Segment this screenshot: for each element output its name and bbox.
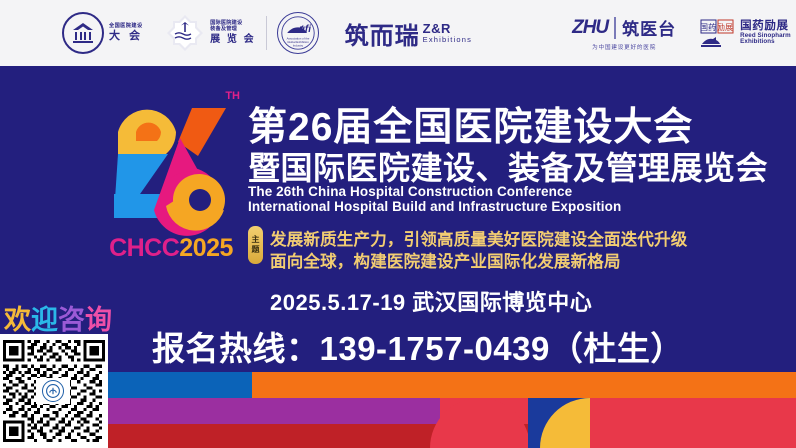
- logo2-line3: 展 览 会: [210, 34, 256, 46]
- snowflake-icon: [165, 13, 205, 53]
- logo-zhuyitai: ZHU 筑医台 为中国建设更好的医院: [572, 15, 676, 51]
- logo-national-conference: 全国医院建设 大 会: [62, 12, 143, 54]
- title-chinese-secondary: 暨国际医院建设、装备及管理展览会: [248, 143, 768, 189]
- zhu-divider: [614, 17, 616, 39]
- qr-seal-glyph-icon: [45, 383, 61, 399]
- qr-seal-icon: [42, 380, 64, 402]
- svg-text:ufi: ufi: [299, 24, 311, 35]
- theme-badge-char2: 题: [252, 245, 260, 255]
- svg-text:励展: 励展: [717, 23, 733, 32]
- zr-en-sub: Exhibitions: [423, 36, 472, 44]
- date-and-venue: 2025.5.17-19 武汉国际博览中心: [270, 285, 592, 317]
- building-seal-icon: [62, 12, 104, 54]
- decorative-color-band: [0, 358, 796, 448]
- ufi-glyph-icon: ufi Association of the Global Exhibition…: [280, 15, 316, 51]
- zr-chinese-name: 筑而瑞: [345, 16, 420, 51]
- logo-divider: [266, 16, 267, 50]
- chcc-brand-letters: CHCC: [109, 234, 179, 262]
- chcc-brand: CHCC2025: [96, 234, 246, 263]
- chcc-brand-year: 2025: [179, 234, 233, 262]
- ufi-badge-icon: ufi Association of the Global Exhibition…: [277, 12, 319, 54]
- title-english-primary: The 26th China Hospital Construction Con…: [248, 184, 572, 199]
- logo-reed-sinopharm: 国药 励展 国药励展 Reed Sinopharm Exhibitions: [700, 18, 791, 48]
- logo1-line2: 大 会: [109, 31, 143, 43]
- welcome-char-3: 咨: [58, 305, 85, 335]
- emblem-superscript: TH: [225, 90, 240, 102]
- theme-badge-char1: 主: [252, 235, 260, 245]
- svg-text:国药: 国药: [700, 22, 716, 32]
- reed-en-sub: Exhibitions: [740, 39, 791, 46]
- title-english-secondary: International Hospital Build and Infrast…: [248, 199, 621, 214]
- logo-exhibition: 国际医院建设 装备及管理 展 览 会: [165, 13, 256, 53]
- reed-sinopharm-icon: 国药 励展: [700, 18, 736, 48]
- logo-zr-exhibitions: 筑而瑞 Z&R Exhibitions: [345, 16, 472, 51]
- zhu-slogan: 为中国建设更好的医院: [572, 43, 676, 51]
- welcome-char-2: 迎: [31, 305, 58, 335]
- logo1-line1: 全国医院建设: [109, 24, 143, 29]
- chcc-emblem: TH CHCC2025: [96, 88, 246, 263]
- welcome-text: 欢迎咨询: [4, 298, 112, 337]
- reed-chinese-name: 国药励展: [740, 20, 791, 33]
- registration-hotline: 报名热线：139-1757-0439（杜生）: [152, 322, 684, 370]
- theme-line-1: 发展新质生产力，引领高质量美好医院建设全面迭代升级: [270, 226, 688, 250]
- qr-center-logo: [36, 378, 70, 404]
- svg-text:Industry: Industry: [293, 44, 304, 48]
- logo2-line2: 装备及管理: [210, 27, 256, 33]
- building-glyph-icon: [70, 20, 96, 46]
- welcome-char-4: 询: [85, 305, 112, 335]
- theme-badge: 主 题: [248, 226, 263, 264]
- emblem-26-icon: [96, 88, 246, 238]
- poster-canvas: 全国医院建设 大 会 国际医院建设 装备及管理 展 览 会: [0, 0, 796, 448]
- zr-en-name: Z&R: [423, 22, 472, 36]
- zhu-wordmark: ZHU: [572, 17, 608, 39]
- welcome-char-1: 欢: [4, 305, 31, 335]
- theme-line-2: 面向全球，构建医院建设产业国际化发展新格局: [270, 248, 621, 272]
- zhu-chinese-name: 筑医台: [622, 15, 676, 40]
- top-logo-bar: 全国医院建设 大 会 国际医院建设 装备及管理 展 览 会: [0, 0, 796, 66]
